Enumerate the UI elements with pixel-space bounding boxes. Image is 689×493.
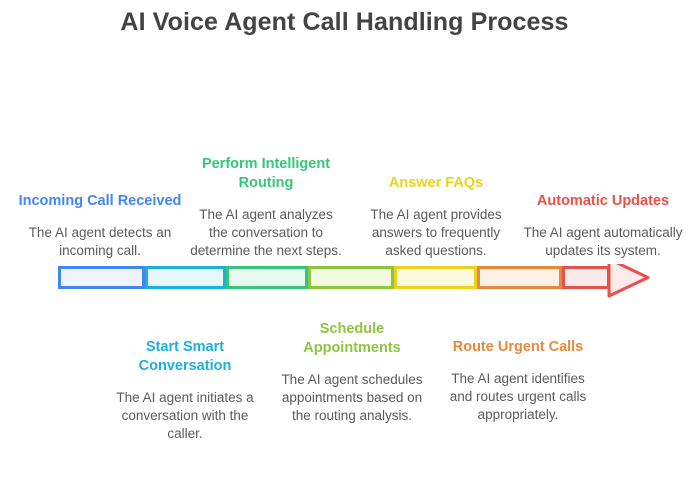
step-description: The AI agent schedules appointments base… [272,371,432,425]
arrow-segments [60,268,609,288]
arrow-segment-3 [228,268,307,288]
step-label-route-urgent-calls: Route Urgent Calls The AI agent identifi… [441,338,595,424]
step-description: The AI agent provides answers to frequen… [355,206,517,260]
step-title: Automatic Updates [521,192,685,211]
step-label-start-smart-conversation: Start Smart Conversation The AI agent in… [104,338,266,443]
arrow-segment-1 [60,268,144,288]
step-description: The AI agent automatically updates its s… [521,224,685,260]
step-label-perform-intelligent-routing: Perform Intelligent Routing The AI agent… [190,155,342,260]
step-description: The AI agent initiates a conversation wi… [104,389,266,443]
step-title: Perform Intelligent Routing [190,155,342,193]
page-title: AI Voice Agent Call Handling Process [0,8,689,37]
step-description: The AI agent detects an incoming call. [10,224,190,260]
step-description: The AI agent analyzes the conversation t… [190,206,342,260]
step-title: Route Urgent Calls [441,338,595,357]
step-title: Schedule Appointments [272,320,432,358]
step-description: The AI agent identifies and routes urgen… [441,370,595,424]
arrow-segment-4 [310,268,393,288]
arrow-segment-5 [396,268,476,288]
arrow-segment-2 [147,268,225,288]
step-label-automatic-updates: Automatic Updates The AI agent automatic… [521,192,685,260]
step-label-schedule-appointments: Schedule Appointments The AI agent sched… [272,320,432,425]
arrow-head-icon [609,264,648,296]
arrow-segment-7 [564,268,609,288]
process-arrow [0,264,689,300]
step-title: Incoming Call Received [10,192,190,211]
step-label-answer-faqs: Answer FAQs The AI agent provides answer… [355,174,517,260]
arrow-segment-6 [479,268,561,288]
step-title: Start Smart Conversation [104,338,266,376]
step-title: Answer FAQs [355,174,517,193]
step-label-incoming-call-received: Incoming Call Received The AI agent dete… [10,192,190,260]
